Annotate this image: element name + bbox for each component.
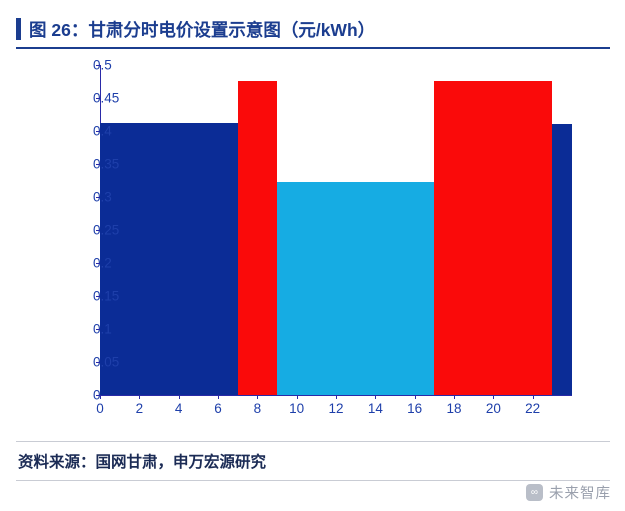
x-tick-mark	[100, 395, 101, 399]
bar-3	[434, 81, 552, 395]
x-tick-mark	[375, 395, 376, 399]
x-tick-label: 20	[486, 401, 501, 416]
y-tick-mark	[96, 230, 100, 231]
y-tick-mark	[96, 65, 100, 66]
watermark-label: 未来智库	[549, 482, 611, 503]
x-tick-label: 12	[328, 401, 343, 416]
x-tick-mark	[179, 395, 180, 399]
bar-2	[277, 182, 434, 395]
y-tick-mark	[96, 164, 100, 165]
x-tick-label: 16	[407, 401, 422, 416]
figure-title-row: 图 26：甘肃分时电价设置示意图（元/kWh）	[16, 14, 610, 44]
title-accent-bar	[16, 18, 21, 40]
footer-divider-bottom	[16, 480, 610, 481]
x-tick-mark	[533, 395, 534, 399]
page-title: 图 26：甘肃分时电价设置示意图（元/kWh）	[29, 17, 375, 42]
x-tick-mark	[336, 395, 337, 399]
x-tick-label: 4	[175, 401, 183, 416]
y-tick-mark	[96, 263, 100, 264]
x-tick-label: 8	[254, 401, 262, 416]
y-tick-mark	[96, 296, 100, 297]
x-tick-mark	[218, 395, 219, 399]
bar-4	[552, 124, 572, 395]
x-tick-mark	[139, 395, 140, 399]
y-tick-mark	[96, 362, 100, 363]
x-tick-mark	[415, 395, 416, 399]
y-tick-mark	[96, 131, 100, 132]
x-tick-mark	[493, 395, 494, 399]
title-underline	[16, 47, 610, 49]
y-tick-mark	[96, 197, 100, 198]
y-tick-mark	[96, 98, 100, 99]
x-tick-label: 22	[525, 401, 540, 416]
x-tick-label: 0	[96, 401, 104, 416]
x-tick-label: 2	[136, 401, 144, 416]
x-tick-mark	[297, 395, 298, 399]
x-tick-label: 14	[368, 401, 383, 416]
source-note: 资料来源：国网甘肃，申万宏源研究	[18, 450, 266, 472]
x-tick-label: 18	[446, 401, 461, 416]
bar-0	[100, 123, 238, 395]
x-tick-mark	[454, 395, 455, 399]
watermark: ∞ 未来智库	[526, 482, 611, 503]
x-tick-label: 6	[214, 401, 222, 416]
plot-area	[100, 65, 572, 395]
logo-icon: ∞	[526, 484, 543, 501]
chart-container: 00.050.10.150.20.250.30.350.40.450.5 024…	[16, 55, 610, 435]
y-tick-mark	[96, 329, 100, 330]
x-tick-mark	[257, 395, 258, 399]
bar-1	[238, 81, 277, 395]
figure-card: 图 26：甘肃分时电价设置示意图（元/kWh） 00.050.10.150.20…	[0, 0, 625, 511]
footer-divider-top	[16, 441, 610, 442]
x-tick-label: 10	[289, 401, 304, 416]
